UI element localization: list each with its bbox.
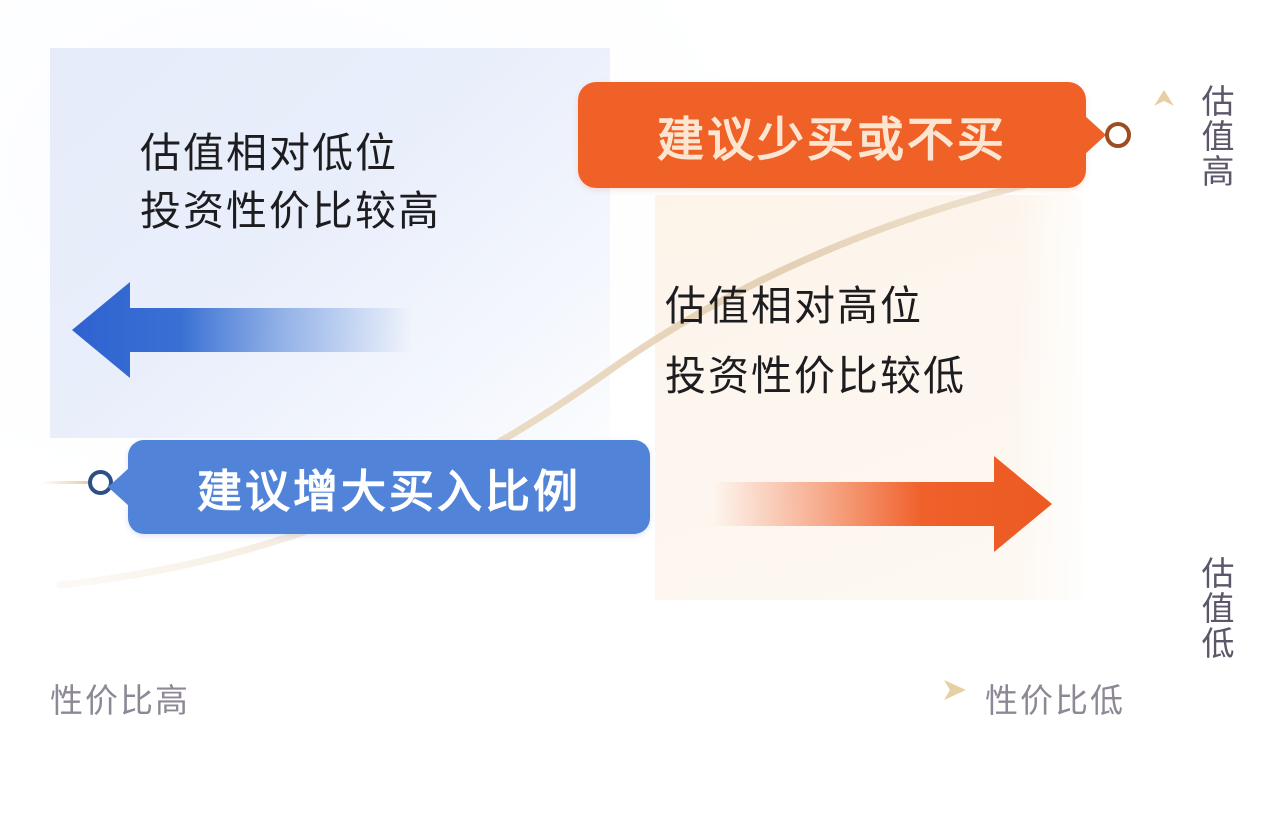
axis-label-cost-performance-high: 性价比高 [50, 674, 190, 722]
cost-performance-axis [420, 676, 970, 704]
buy-badge-tail [108, 467, 130, 507]
increase-buy-arrow [72, 278, 412, 382]
reduce-buy-arrow [712, 452, 1052, 556]
axis-label-valuation-low: 估值低 [1196, 556, 1233, 661]
buy-advice-badge[interactable]: 建议增大买入比例 [128, 440, 650, 534]
high-valuation-description: 估值相对高位 投资性价比较低 [665, 272, 966, 411]
low-valuation-description: 估值相对低位 投资性价比较高 [140, 124, 441, 240]
buy-advice-label: 建议增大买入比例 [197, 455, 581, 520]
sell-advice-badge[interactable]: 建议少买或不买 [578, 82, 1086, 188]
valuation-axis [1152, 88, 1176, 458]
sell-advice-label: 建议少买或不买 [657, 101, 1007, 170]
sell-marker-ring [1105, 122, 1131, 148]
axis-label-cost-performance-low: 性价比低 [985, 674, 1125, 722]
sell-badge-tail [1084, 115, 1106, 155]
axis-label-valuation-high: 估值高 [1196, 84, 1233, 189]
infographic-canvas: 估值相对低位 投资性价比较高 估值相对高位 投资性价比较低 建议少买或不买 建议… [0, 0, 1274, 828]
buy-marker-leader-line [40, 481, 92, 484]
